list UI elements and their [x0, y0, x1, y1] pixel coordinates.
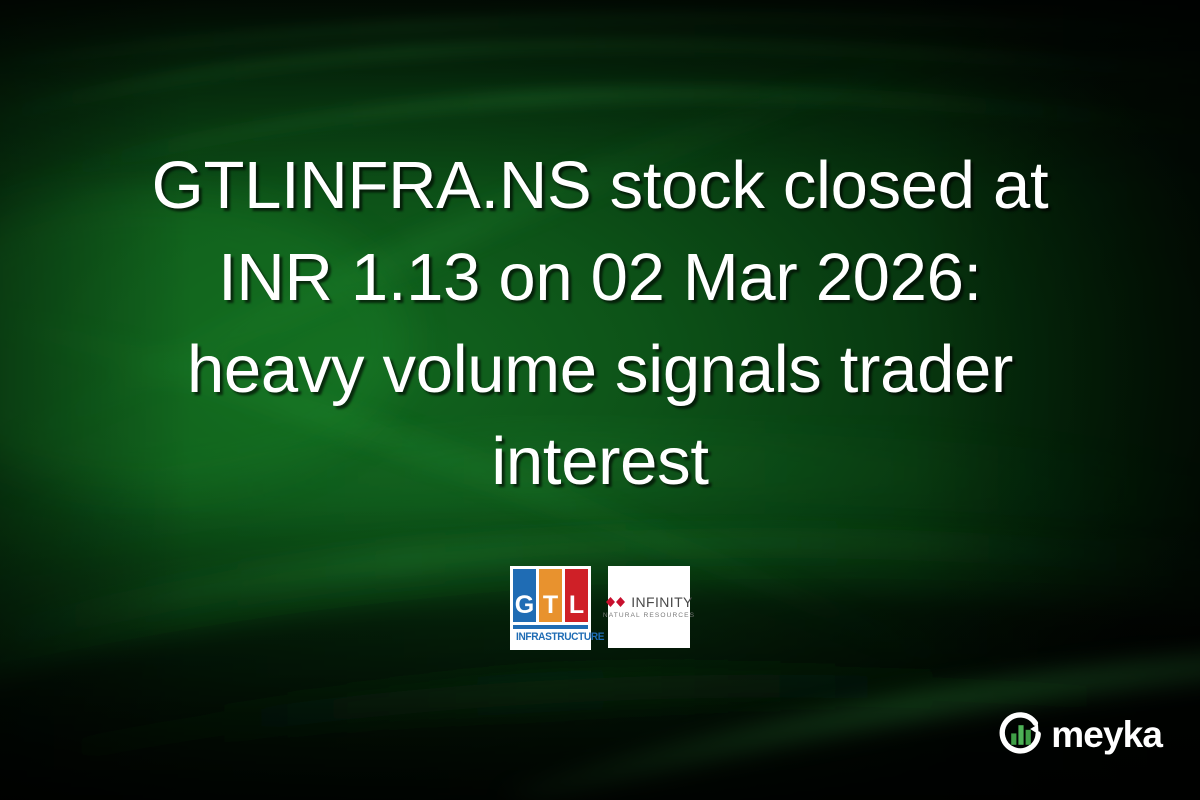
- infinity-subtitle: NATURAL RESOURCES: [603, 613, 695, 620]
- headline: GTLINFRA.NS stock closed at INR 1.13 on …: [0, 140, 1200, 508]
- infinity-natural-resources-logo: INFINITY NATURAL RESOURCES: [608, 566, 690, 648]
- infinity-name-row: INFINITY: [605, 595, 693, 609]
- gtl-letter-bars: G T L: [513, 569, 588, 622]
- headline-line-1: GTLINFRA.NS stock closed at: [48, 140, 1152, 232]
- gtl-wordmark: INFRASTRUCTURE: [516, 631, 585, 643]
- social-card: GTLINFRA.NS stock closed at INR 1.13 on …: [0, 0, 1200, 800]
- headline-line-3: heavy volume signals trader: [48, 324, 1152, 416]
- gtl-letter-l: L: [565, 569, 588, 622]
- gtl-infrastructure-logo: G T L INFRASTRUCTURE: [510, 566, 591, 650]
- headline-line-2: INR 1.13 on 02 Mar 2026:: [48, 232, 1152, 324]
- meyka-wordmark: meyka: [1051, 716, 1162, 753]
- infinity-name: INFINITY: [631, 595, 693, 609]
- gtl-letter-t: T: [539, 569, 562, 622]
- gtl-letter-g: G: [513, 569, 536, 622]
- infinity-diamond-icon: [605, 596, 627, 608]
- headline-line-4: interest: [48, 416, 1152, 508]
- meyka-brand: meyka: [997, 710, 1162, 758]
- company-logo-strip: G T L INFRASTRUCTURE INFINITY NATURAL RE…: [0, 566, 1200, 650]
- meyka-logo-icon: [997, 710, 1045, 758]
- gtl-divider-rule: [513, 625, 588, 629]
